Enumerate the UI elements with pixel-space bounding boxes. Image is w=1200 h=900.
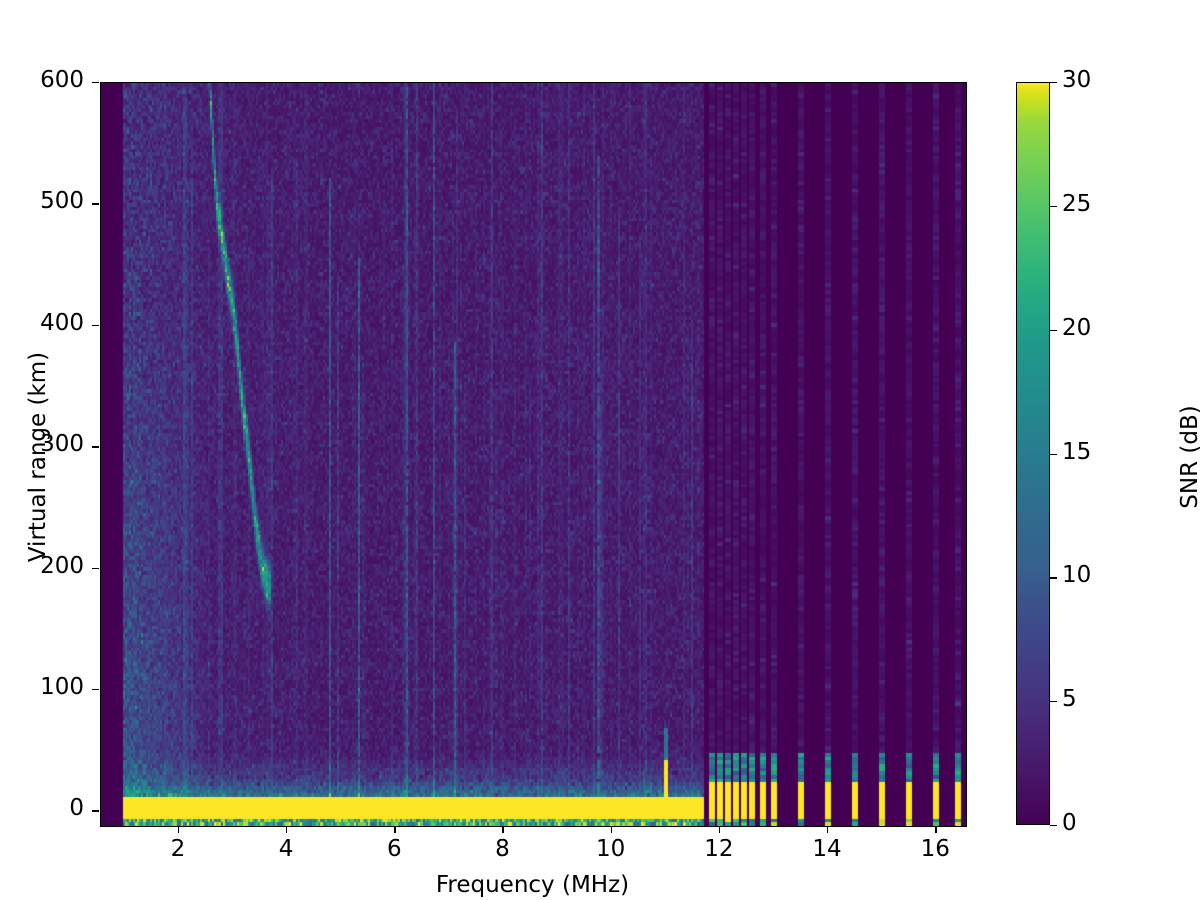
x-axis-label: Frequency (MHz) xyxy=(100,872,965,898)
ionogram-figure: IRF Uppsala SDR Ionosonde UP158 2026-03-… xyxy=(0,0,1200,900)
colorbar-tick-label: 20 xyxy=(1062,315,1091,341)
colorbar-tick-label: 0 xyxy=(1062,810,1077,836)
colorbar-tick-label: 5 xyxy=(1062,686,1077,712)
x-tick-mark xyxy=(827,826,828,833)
y-tick-mark xyxy=(92,325,99,326)
y-tick-mark xyxy=(92,568,99,569)
x-tick-label: 8 xyxy=(462,836,542,862)
x-tick-label: 4 xyxy=(246,836,326,862)
y-tick-mark xyxy=(92,82,99,83)
colorbar-tick-mark xyxy=(1050,454,1057,455)
x-tick-mark xyxy=(935,826,936,833)
y-tick-mark xyxy=(92,810,99,811)
colorbar-tick-mark xyxy=(1050,577,1057,578)
x-tick-mark xyxy=(719,826,720,833)
colorbar-tick-label: 25 xyxy=(1062,191,1091,217)
x-tick-label: 2 xyxy=(138,836,218,862)
colorbar-tick-mark xyxy=(1050,82,1057,83)
colorbar-tick-mark xyxy=(1050,206,1057,207)
y-tick-mark xyxy=(92,446,99,447)
x-tick-label: 12 xyxy=(679,836,759,862)
x-tick-label: 10 xyxy=(571,836,651,862)
y-tick-label: 500 xyxy=(0,188,84,214)
colorbar-tick-mark xyxy=(1050,825,1057,826)
colorbar-label: SNR (dB) xyxy=(1177,247,1200,667)
y-tick-label: 0 xyxy=(0,795,84,821)
x-tick-label: 14 xyxy=(787,836,867,862)
y-tick-mark xyxy=(92,203,99,204)
colorbar-tick-mark xyxy=(1050,701,1057,702)
x-tick-label: 6 xyxy=(354,836,434,862)
x-tick-mark xyxy=(394,826,395,833)
colorbar-tick-label: 10 xyxy=(1062,562,1091,588)
x-tick-mark xyxy=(502,826,503,833)
x-tick-mark xyxy=(178,826,179,833)
colorbar-gradient xyxy=(1016,82,1050,825)
y-axis-label: Virtual range (km) xyxy=(25,247,51,667)
ionogram-heatmap xyxy=(101,83,966,826)
x-tick-mark xyxy=(286,826,287,833)
x-tick-label: 16 xyxy=(895,836,975,862)
colorbar-tick-label: 15 xyxy=(1062,439,1091,465)
colorbar-tick-label: 30 xyxy=(1062,67,1091,93)
y-tick-label: 100 xyxy=(0,674,84,700)
y-tick-label: 600 xyxy=(0,67,84,93)
x-tick-mark xyxy=(611,826,612,833)
colorbar-wrapper xyxy=(1016,82,1050,825)
y-tick-mark xyxy=(92,689,99,690)
plot-axes xyxy=(100,82,967,827)
colorbar-tick-mark xyxy=(1050,330,1057,331)
